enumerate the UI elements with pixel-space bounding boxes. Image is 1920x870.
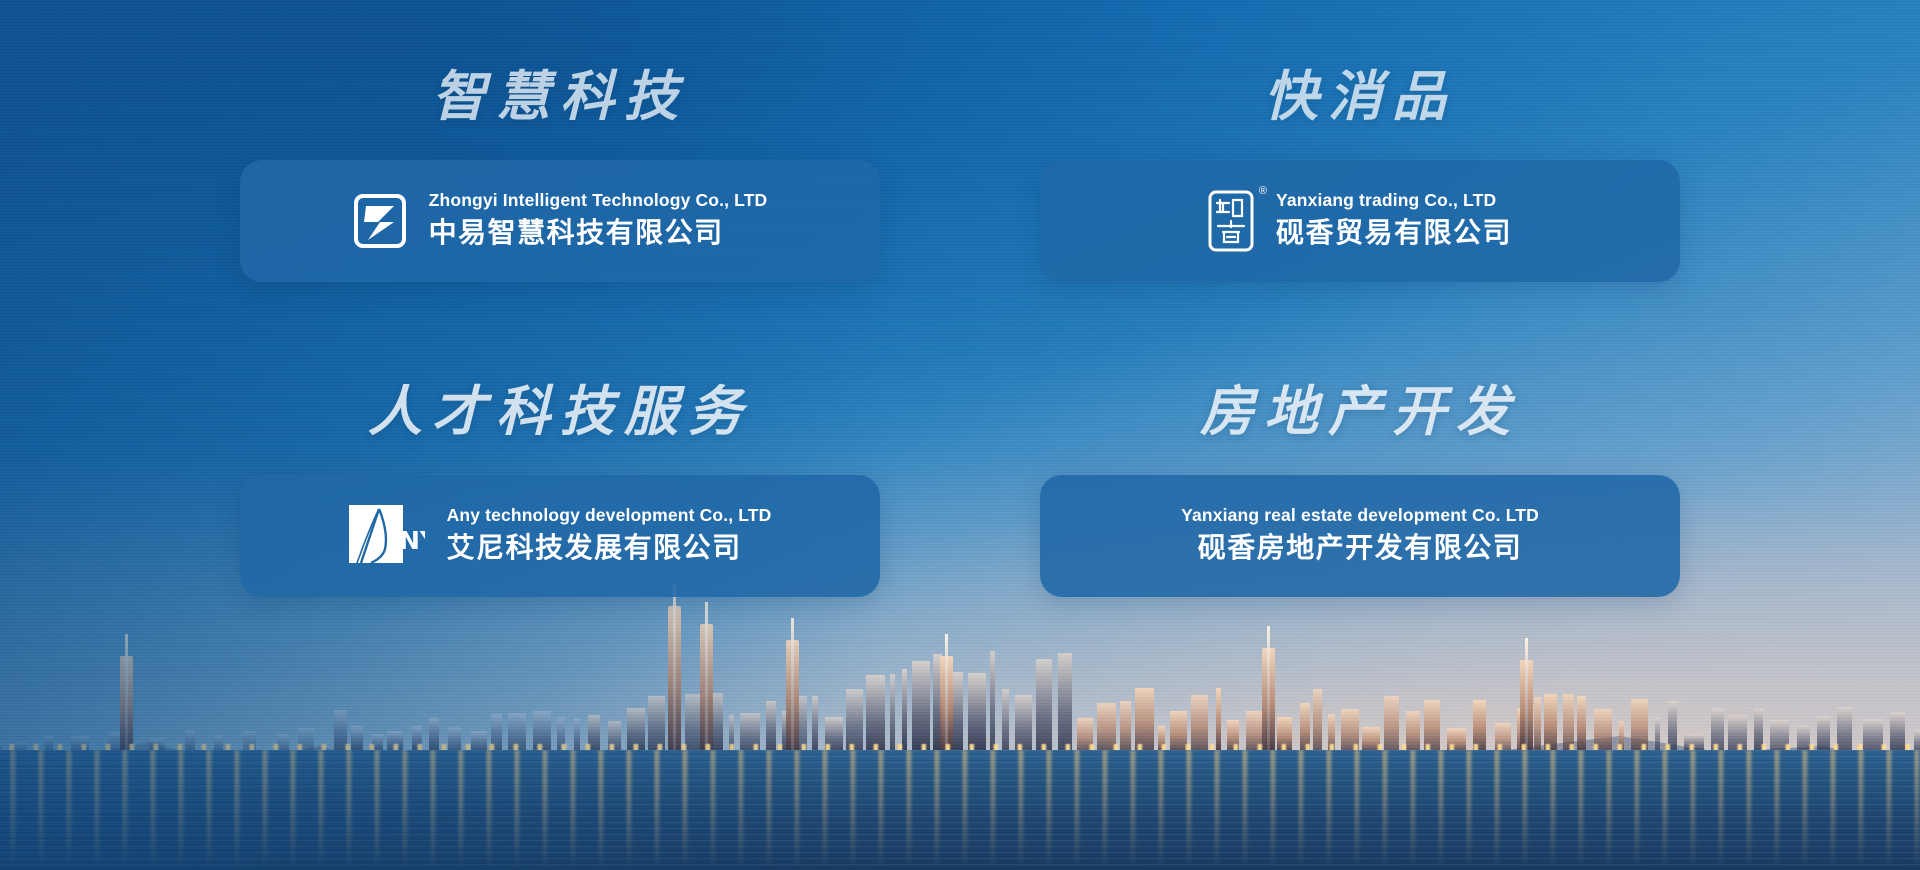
any-logo-icon: NY	[349, 505, 425, 567]
section-heading-real-estate: 房地产开发	[1040, 385, 1680, 439]
svg-text:NY: NY	[399, 526, 425, 555]
company-name-en-zhongyi: Zhongyi Intelligent Technology Co., LTD	[429, 190, 768, 211]
company-names-yanxiang-trading: Yanxiang trading Co., LTD 砚香贸易有限公司	[1276, 190, 1512, 251]
company-name-cn-yanxiang-trading: 砚香贸易有限公司	[1276, 215, 1512, 251]
company-card-zhongyi[interactable]: Zhongyi Intelligent Technology Co., LTD …	[240, 160, 880, 282]
sector-fmcg: 快消品 ® Yanxiang trading Co., LTD 砚香贸易有限公司	[1040, 70, 1680, 385]
section-heading-smart-technology: 智慧科技	[240, 70, 880, 124]
company-card-yanxiang-real-estate[interactable]: Yanxiang real estate development Co. LTD…	[1040, 475, 1680, 597]
company-card-any[interactable]: NY Any technology development Co., LTD 艾…	[240, 475, 880, 597]
company-card-yanxiang-trading[interactable]: ® Yanxiang trading Co., LTD 砚香贸易有限公司	[1040, 160, 1680, 282]
company-name-en-yanxiang-real-estate: Yanxiang real estate development Co. LTD	[1181, 505, 1539, 526]
business-sectors-grid: 智慧科技 Zhongyi Intelligent Technology Co.,…	[0, 0, 1920, 870]
zhongyi-logo-icon	[353, 194, 407, 248]
sector-talent-tech-services: 人才科技服务 NY Any technology development Co.…	[240, 385, 880, 700]
company-names-yanxiang-real-estate: Yanxiang real estate development Co. LTD…	[1181, 505, 1539, 566]
registered-mark-icon: ®	[1259, 186, 1267, 197]
company-name-en-yanxiang-trading: Yanxiang trading Co., LTD	[1276, 190, 1512, 211]
section-heading-talent-tech-services: 人才科技服务	[240, 385, 880, 439]
yanxiang-seal-logo-icon: ®	[1208, 190, 1254, 252]
company-name-cn-yanxiang-real-estate: 砚香房地产开发有限公司	[1198, 530, 1523, 566]
company-name-cn-zhongyi: 中易智慧科技有限公司	[429, 215, 768, 251]
company-name-en-any: Any technology development Co., LTD	[447, 505, 772, 526]
company-name-cn-any: 艾尼科技发展有限公司	[447, 530, 772, 566]
company-names-any: Any technology development Co., LTD 艾尼科技…	[447, 505, 772, 566]
sector-smart-technology: 智慧科技 Zhongyi Intelligent Technology Co.,…	[240, 70, 880, 385]
company-names-zhongyi: Zhongyi Intelligent Technology Co., LTD …	[429, 190, 768, 251]
section-heading-fmcg: 快消品	[1040, 70, 1680, 124]
sector-real-estate: 房地产开发 Yanxiang real estate development C…	[1040, 385, 1680, 700]
